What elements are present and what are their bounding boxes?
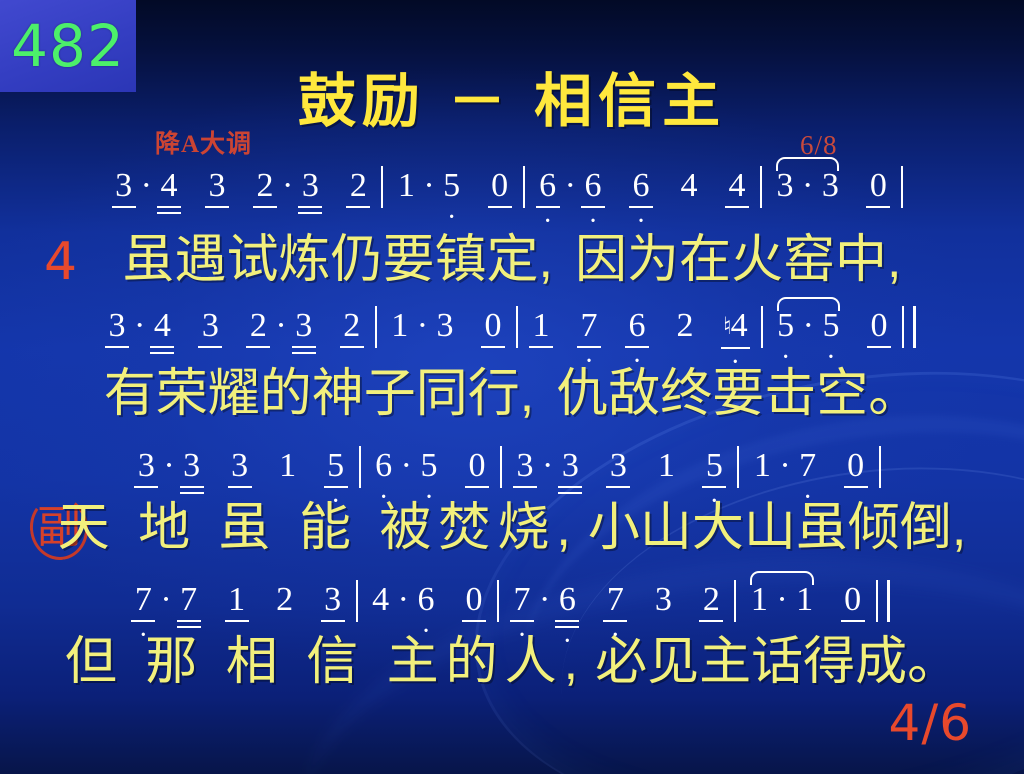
note: 7· — [576, 308, 602, 344]
tie-group: 3·3 — [772, 168, 843, 204]
note: 1 — [792, 582, 818, 618]
barline — [879, 446, 881, 488]
notation-line: 3·432·321·3017·6·2♮4·5··5·0 — [0, 308, 1024, 364]
duration-dot: · — [397, 448, 416, 484]
note: 1 — [746, 582, 772, 618]
octave-dot: · — [628, 219, 654, 225]
note: 6· — [624, 308, 650, 344]
barline — [359, 446, 361, 488]
note: 0 — [865, 168, 891, 204]
note: 3 — [772, 168, 798, 204]
lyric-right: 因为在火窑中, — [575, 228, 901, 292]
lyric-right: 仇敌终要击空。 — [556, 362, 920, 426]
note: 0 — [866, 308, 892, 344]
barline — [381, 166, 383, 208]
tie-group: 5··5· — [773, 308, 844, 344]
note: 0 — [461, 582, 487, 618]
lyric-left: 虽遇试炼仍要镇定, — [123, 228, 553, 292]
lyric-left: 天 地 虽 能 被焚烧, — [58, 496, 578, 560]
note: 7· — [795, 448, 821, 484]
note: 2 — [698, 582, 724, 618]
lyric-line-2: 有荣耀的神子同行, 仇敌终要击空。 — [0, 362, 1024, 432]
lyric-line-3: 天 地 虽 能 被焚烧, 小山大山虽倾倒, — [0, 496, 1024, 566]
note: 5· — [701, 448, 727, 484]
page-indicator: 4/6 — [889, 694, 972, 752]
note: 3 — [320, 582, 346, 618]
note: 2 — [339, 308, 365, 344]
tie-group: 1·1 — [746, 582, 817, 618]
note: 7· — [509, 582, 535, 618]
note: 6· — [554, 582, 580, 618]
notation-line: 3·432·321·5·06··6·6·443·30 — [0, 168, 1024, 224]
note: 3 — [605, 448, 631, 484]
duration-dot: · — [419, 168, 438, 204]
lyric-left: 有荣耀的神子同行, — [104, 362, 534, 426]
note: 3 — [204, 168, 230, 204]
note: 3 — [650, 582, 676, 618]
note: 3 — [179, 448, 205, 484]
music-system-2: 3·432·321·3017·6·2♮4·5··5·0 — [0, 308, 1024, 364]
barline — [497, 580, 499, 622]
octave-dot: · — [439, 215, 465, 221]
note: 7· — [130, 582, 156, 618]
note: 3 — [512, 448, 538, 484]
note: 2 — [672, 308, 698, 344]
accidental-icon: ♮ — [723, 314, 732, 340]
note: 5· — [439, 168, 465, 204]
note: 4 — [676, 168, 702, 204]
duration-dot: · — [538, 448, 557, 484]
note: 1 — [653, 448, 679, 484]
duration-dot: · — [156, 582, 175, 618]
note: 5· — [773, 308, 799, 344]
note: 0 — [464, 448, 490, 484]
note: 3 — [111, 168, 137, 204]
duration-dot: · — [159, 448, 178, 484]
duration-dot: · — [278, 168, 297, 204]
barline — [761, 306, 763, 348]
barline — [760, 166, 762, 208]
lyric-line-4: 但 那 相 信 主的人, 必见主话得成。 — [0, 630, 1024, 700]
octave-dot: · — [580, 219, 606, 225]
note: 6· — [628, 168, 654, 204]
duration-dot: · — [271, 308, 290, 344]
note: 4 — [149, 308, 175, 344]
final-barline — [902, 306, 916, 348]
note: 2 — [252, 168, 278, 204]
note: 2 — [245, 308, 271, 344]
note: ♮4· — [720, 308, 751, 345]
note: 0 — [840, 582, 866, 618]
barline — [356, 580, 358, 622]
octave-dot: · — [818, 355, 844, 361]
note: 1 — [749, 448, 775, 484]
barline — [901, 166, 903, 208]
note: 3 — [817, 168, 843, 204]
note: 0 — [843, 448, 869, 484]
music-system-1: 3·432·321·5·06··6·6·443·30 — [0, 168, 1024, 224]
barline — [523, 166, 525, 208]
final-barline — [876, 580, 890, 622]
duration-dot: · — [798, 168, 817, 204]
note: 3 — [227, 448, 253, 484]
lyric-line-1: 虽遇试炼仍要镇定, 因为在火窑中, — [0, 228, 1024, 298]
note: 4 — [724, 168, 750, 204]
note: 2 — [272, 582, 298, 618]
lyric-right: 小山大山虽倾倒, — [588, 496, 966, 560]
note: 7· — [602, 582, 628, 618]
note: 4 — [368, 582, 394, 618]
note: 3 — [291, 308, 317, 344]
note: 3 — [432, 308, 458, 344]
note: 0 — [487, 168, 513, 204]
note: 1 — [275, 448, 301, 484]
note: 2 — [345, 168, 371, 204]
note: 1 — [224, 582, 250, 618]
lyric-left: 但 那 相 信 主的人, — [65, 630, 585, 694]
barline — [500, 446, 502, 488]
duration-dot: · — [775, 448, 794, 484]
duration-dot: · — [772, 582, 791, 618]
hymn-slide: 482 鼓励 － 相信主 降A大调 6/8 4 副 3·432·321·5·06… — [0, 0, 1024, 774]
note: 4 — [156, 168, 182, 204]
duration-dot: · — [413, 308, 432, 344]
note: 3 — [557, 448, 583, 484]
note: 3 — [133, 448, 159, 484]
duration-dot: · — [394, 582, 413, 618]
barline — [375, 306, 377, 348]
note: 7· — [176, 582, 202, 618]
note: 1 — [387, 308, 413, 344]
note: 1 — [528, 308, 554, 344]
note: 5· — [416, 448, 442, 484]
duration-dot: · — [535, 582, 554, 618]
note: 5· — [818, 308, 844, 344]
barline — [516, 306, 518, 348]
duration-dot: · — [799, 308, 818, 344]
note: 6· — [371, 448, 397, 484]
lyric-right: 必见主话得成。 — [595, 630, 959, 694]
note: 3 — [197, 308, 223, 344]
note: 3 — [297, 168, 323, 204]
duration-dot: · — [130, 308, 149, 344]
note: 3 — [104, 308, 130, 344]
duration-dot: · — [137, 168, 156, 204]
barline — [737, 446, 739, 488]
note: 6· — [535, 168, 561, 204]
octave-dot: · — [535, 219, 561, 225]
note: 0 — [480, 308, 506, 344]
barline — [734, 580, 736, 622]
note: 6· — [580, 168, 606, 204]
duration-dot: · — [561, 168, 580, 204]
octave-dot: · — [773, 355, 799, 361]
note: 6· — [413, 582, 439, 618]
note: 5· — [323, 448, 349, 484]
note: 1 — [393, 168, 419, 204]
